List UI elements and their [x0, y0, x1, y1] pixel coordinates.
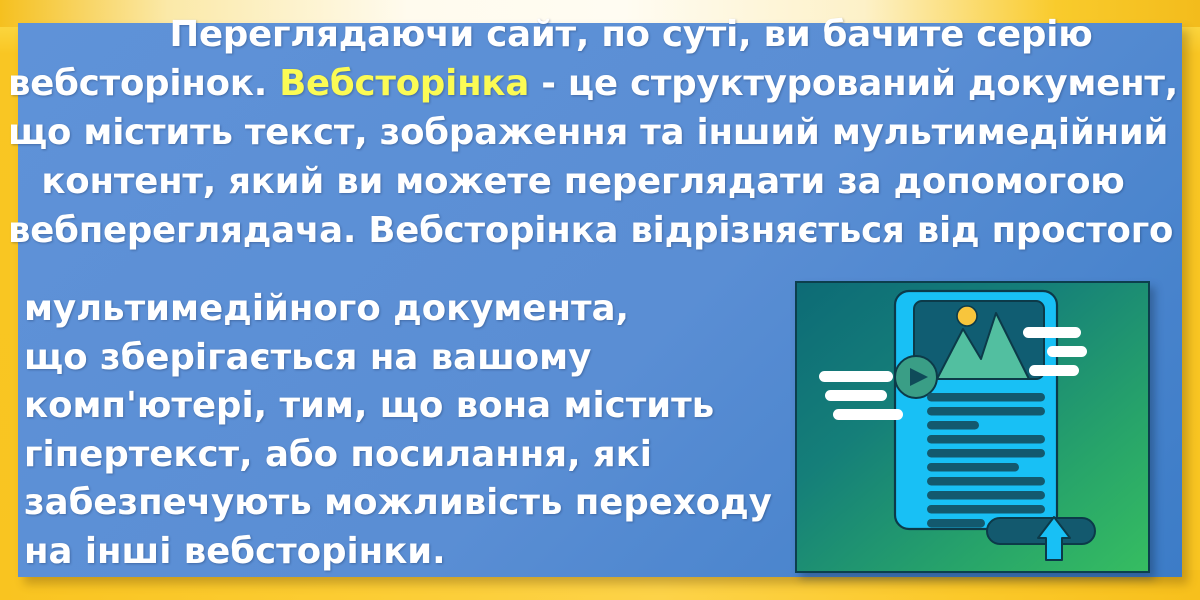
doc-line-3 — [927, 421, 979, 430]
body-text-lower: мультимедійного документа, що зберігаєть… — [24, 285, 794, 576]
text-line-2: вебсторінок. Вебсторінка - це структуров… — [8, 59, 1158, 108]
webpage-document-illustration — [795, 281, 1150, 573]
text-line-8: комп'ютері, тим, що вона містить — [24, 382, 794, 431]
doc-line-6 — [927, 463, 1019, 472]
white-line-right-1 — [1023, 327, 1081, 338]
highlighted-keyword: Вебсторінка — [279, 63, 529, 104]
text-line-3: що містить текст, зображення та інший му… — [8, 108, 1158, 157]
text-line-5: вебпереглядача. Вебсторінка відрізняєтьс… — [8, 206, 1158, 255]
white-line-right-2 — [1047, 346, 1087, 357]
doc-line-4 — [927, 435, 1045, 444]
doc-line-5 — [927, 449, 1045, 458]
body-text-upper: Переглядаючи сайт, по суті, ви бачите се… — [8, 10, 1158, 255]
text-line-11: на інші вебсторінки. — [24, 528, 794, 577]
doc-line-10 — [927, 519, 985, 528]
text-line-4: контент, який ви можете переглядати за д… — [8, 157, 1158, 206]
slide-root: Переглядаючи сайт, по суті, ви бачите се… — [0, 0, 1200, 600]
text-line-2b: - це структурований документ, — [529, 63, 1178, 104]
text-line-1: Переглядаючи сайт, по суті, ви бачите се… — [8, 10, 1158, 59]
white-line-left-3 — [833, 409, 903, 420]
sun-icon — [957, 306, 977, 326]
text-line-9: гіпертекст, або посилання, які — [24, 431, 794, 480]
text-line-2a: вебсторінок. — [8, 63, 279, 104]
doc-line-2 — [927, 407, 1045, 416]
paragraph-upper: Переглядаючи сайт, по суті, ви бачите се… — [8, 10, 1158, 255]
illustration-svg — [797, 283, 1148, 571]
doc-line-1 — [927, 393, 1045, 402]
text-line-7: що зберігається на вашому — [24, 334, 794, 383]
white-line-left-2 — [825, 390, 887, 401]
doc-line-9 — [927, 505, 1045, 514]
white-line-right-3 — [1029, 365, 1079, 376]
hyperlink-bar — [987, 518, 1095, 544]
white-line-left-1 — [819, 371, 893, 382]
text-line-6: мультимедійного документа, — [24, 285, 794, 334]
text-line-10: забезпечують можливість переходу — [24, 479, 794, 528]
doc-line-8 — [927, 491, 1045, 500]
doc-line-7 — [927, 477, 1045, 486]
